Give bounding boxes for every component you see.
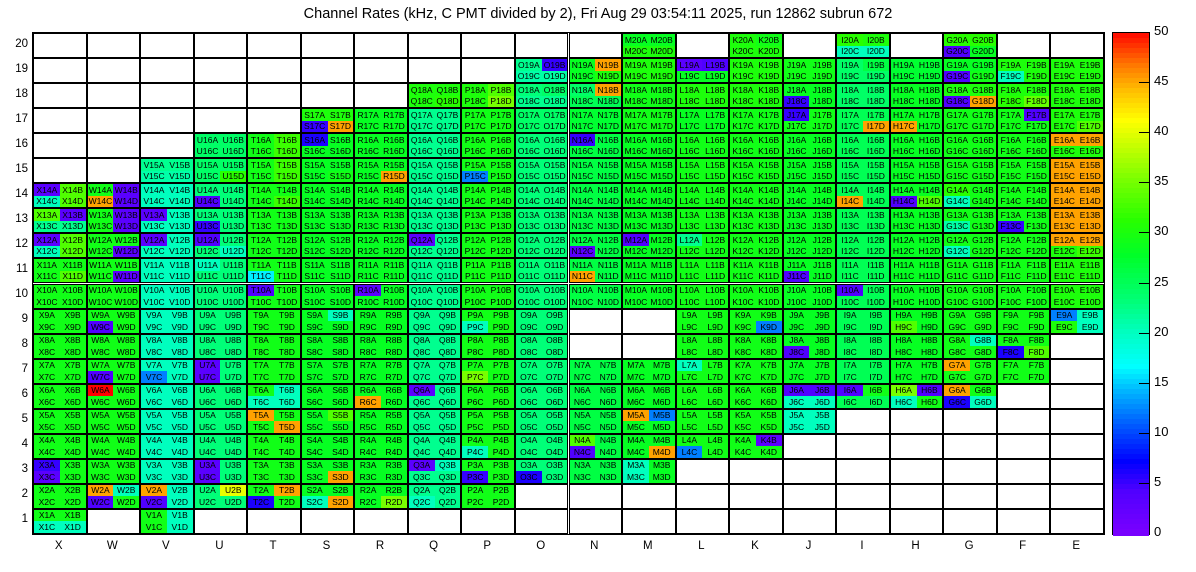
- pmt-channel: N6C: [570, 396, 596, 408]
- pmt-channel: X13B: [60, 209, 86, 221]
- pmt-channel: I15C: [837, 171, 863, 183]
- pmt-channel: L15D: [702, 171, 728, 183]
- pmt-channel: V10D: [167, 296, 193, 308]
- pmt-cell: H17AH17BH17CH17D: [890, 108, 944, 133]
- pmt-channel: X13D: [60, 221, 86, 233]
- pmt-channel: W8A: [88, 335, 114, 347]
- pmt-channel: F18B: [1024, 84, 1050, 96]
- pmt-channel: O13D: [542, 221, 568, 233]
- pmt-channel: L5A: [677, 410, 703, 422]
- empty-cell: [569, 509, 623, 534]
- pmt-channel: Q12A: [409, 234, 435, 246]
- pmt-channel: T6D: [274, 396, 300, 408]
- pmt-channel: R3A: [355, 460, 381, 472]
- pmt-channel: I18B: [863, 84, 889, 96]
- pmt-cell: M6AM6BM6CM6D: [622, 384, 676, 409]
- pmt-channel: I8C: [837, 346, 863, 358]
- pmt-channel: W6D: [113, 396, 139, 408]
- pmt-channel: L5B: [702, 410, 728, 422]
- pmt-channel: O19A: [516, 59, 542, 71]
- pmt-channel: I11C: [837, 271, 863, 283]
- pmt-channel: G13D: [970, 221, 996, 233]
- pmt-channel: N10B: [595, 285, 621, 297]
- pmt-cell: Q3AQ3BQ3CQ3D: [408, 459, 462, 484]
- pmt-cell: O9AO9BO9CO9D: [515, 309, 569, 334]
- pmt-channel: L19C: [677, 71, 703, 83]
- pmt-channel: P4D: [488, 446, 514, 458]
- pmt-channel: G18B: [970, 84, 996, 96]
- pmt-cell: I16AI16BI16CI16D: [836, 133, 890, 158]
- pmt-cell: M11AM11BM11CM11D: [622, 258, 676, 283]
- pmt-channel: L6D: [702, 396, 728, 408]
- empty-cell: [33, 158, 87, 183]
- pmt-channel: P6D: [488, 396, 514, 408]
- y-axis-label: 12: [2, 238, 28, 250]
- pmt-cell: H8AH8BH8CH8D: [890, 334, 944, 359]
- pmt-channel: Q3D: [435, 471, 461, 483]
- pmt-cell: M17AM17BM17CM17D: [622, 108, 676, 133]
- pmt-channel: L11D: [702, 271, 728, 283]
- pmt-channel: J8A: [784, 335, 810, 347]
- pmt-channel: O3B: [542, 460, 568, 472]
- empty-cell: [836, 484, 890, 509]
- empty-cell: [461, 58, 515, 83]
- y-axis-label: 2: [2, 488, 28, 500]
- pmt-cell: L10AL10BL10CL10D: [676, 284, 730, 309]
- pmt-cell: G7AG7BG7CG7D: [943, 359, 997, 384]
- pmt-channel: I8B: [863, 335, 889, 347]
- pmt-channel: V15D: [167, 171, 193, 183]
- pmt-cell: Q14AQ14BQ14CQ14D: [408, 183, 462, 208]
- x-axis-label: Q: [414, 540, 454, 552]
- pmt-channel: E9D: [1077, 321, 1103, 333]
- pmt-cell: N4AN4BN4CN4D: [569, 434, 623, 459]
- pmt-cell: H9AH9BH9CH9D: [890, 309, 944, 334]
- pmt-channel: X8A: [34, 335, 60, 347]
- pmt-channel: P8C: [462, 346, 488, 358]
- pmt-cell: S17AS17BS17CS17D: [301, 108, 355, 133]
- pmt-channel: W5A: [88, 410, 114, 422]
- pmt-cell: F12AF12BF12CF12D: [997, 233, 1051, 258]
- pmt-channel: P8B: [488, 335, 514, 347]
- pmt-cell: X5AX5BX5CX5D: [33, 409, 87, 434]
- pmt-channel: Q18D: [435, 96, 461, 108]
- pmt-channel: L13C: [677, 221, 703, 233]
- pmt-channel: J15A: [784, 159, 810, 171]
- pmt-cell: H16AH16BH16CH16D: [890, 133, 944, 158]
- pmt-channel: I17B: [863, 109, 889, 121]
- pmt-channel: I11B: [863, 259, 889, 271]
- pmt-channel: R4B: [381, 435, 407, 447]
- pmt-channel: Q4B: [435, 435, 461, 447]
- pmt-channel: N19C: [570, 71, 596, 83]
- pmt-channel: H18A: [891, 84, 917, 96]
- pmt-channel: U9C: [195, 321, 221, 333]
- pmt-cell: P18AP18BP18CP18D: [461, 83, 515, 108]
- pmt-channel: R14C: [355, 196, 381, 208]
- pmt-channel: R8C: [355, 346, 381, 358]
- pmt-cell: H10AH10BH10CH10D: [890, 284, 944, 309]
- pmt-channel: F14C: [998, 196, 1024, 208]
- pmt-cell: P10AP10BP10CP10D: [461, 284, 515, 309]
- pmt-channel: M11D: [649, 271, 675, 283]
- pmt-cell: M16AM16BM16CM16D: [622, 133, 676, 158]
- pmt-cell: O12AO12BO12CO12D: [515, 233, 569, 258]
- pmt-cell: E11AE11BE11CE11D: [1050, 258, 1104, 283]
- pmt-channel: P16C: [462, 146, 488, 158]
- pmt-channel: L5C: [677, 421, 703, 433]
- pmt-cell: O7AO7BO7CO7D: [515, 359, 569, 384]
- pmt-channel: E19A: [1051, 59, 1077, 71]
- pmt-channel: S10D: [328, 296, 354, 308]
- pmt-channel: F9A: [998, 310, 1024, 322]
- pmt-channel: Q12C: [409, 246, 435, 258]
- pmt-channel: K13D: [756, 221, 782, 233]
- pmt-channel: W5D: [113, 421, 139, 433]
- pmt-cell: S10AS10BS10CS10D: [301, 284, 355, 309]
- pmt-channel: X9D: [60, 321, 86, 333]
- pmt-cell: E17AE17BE17CE17D: [1050, 108, 1104, 133]
- pmt-channel: Q4D: [435, 446, 461, 458]
- pmt-channel: X5D: [60, 421, 86, 433]
- pmt-channel: F9D: [1024, 321, 1050, 333]
- pmt-channel: V8C: [141, 346, 167, 358]
- pmt-channel: I19C: [837, 71, 863, 83]
- pmt-channel: T3C: [248, 471, 274, 483]
- pmt-channel: O7D: [542, 371, 568, 383]
- pmt-channel: I7B: [863, 360, 889, 372]
- pmt-channel: N10A: [570, 285, 596, 297]
- pmt-channel: P16D: [488, 146, 514, 158]
- pmt-channel: J10A: [784, 285, 810, 297]
- pmt-channel: U9B: [220, 310, 246, 322]
- pmt-channel: K8A: [730, 335, 756, 347]
- pmt-channel: O15A: [516, 159, 542, 171]
- pmt-channel: R10B: [381, 285, 407, 297]
- pmt-cell: L11AL11BL11CL11D: [676, 258, 730, 283]
- y-axis-label: 11: [2, 263, 28, 275]
- empty-cell: [247, 509, 301, 534]
- pmt-cell: L7AL7BL7CL7D: [676, 359, 730, 384]
- pmt-cell: F15AF15BF15CF15D: [997, 158, 1051, 183]
- pmt-channel: F18D: [1024, 96, 1050, 108]
- pmt-cell: P5AP5BP5CP5D: [461, 409, 515, 434]
- empty-cell: [301, 83, 355, 108]
- pmt-cell: I19AI19BI19CI19D: [836, 58, 890, 83]
- pmt-channel: P6A: [462, 385, 488, 397]
- pmt-channel: V9D: [167, 321, 193, 333]
- pmt-channel: P5D: [488, 421, 514, 433]
- pmt-cell: G15AG15BG15CG15D: [943, 158, 997, 183]
- pmt-channel: Q13B: [435, 209, 461, 221]
- empty-cell: [301, 509, 355, 534]
- pmt-channel: E18A: [1051, 84, 1077, 96]
- pmt-channel: N4D: [595, 446, 621, 458]
- pmt-cell: T12AT12BT12CT12D: [247, 233, 301, 258]
- pmt-channel: W8C: [88, 346, 114, 358]
- pmt-channel: H6C: [891, 396, 917, 408]
- pmt-channel: F9B: [1024, 310, 1050, 322]
- pmt-channel: F18A: [998, 84, 1024, 96]
- pmt-channel: R14B: [381, 184, 407, 196]
- pmt-channel: S6B: [328, 385, 354, 397]
- pmt-channel: K7A: [730, 360, 756, 372]
- pmt-channel: M6C: [623, 396, 649, 408]
- pmt-cell: O19AO19BO19CO19D: [515, 58, 569, 83]
- pmt-channel: R16B: [381, 134, 407, 146]
- pmt-channel: P14A: [462, 184, 488, 196]
- pmt-channel: J8B: [809, 335, 835, 347]
- pmt-channel: U11D: [220, 271, 246, 283]
- pmt-cell: E9AE9BE9CE9D: [1050, 309, 1104, 334]
- pmt-channel: G7C: [944, 371, 970, 383]
- pmt-channel: X1D: [60, 521, 86, 533]
- empty-cell: [408, 58, 462, 83]
- pmt-cell: R6AR6BR6CR6D: [354, 384, 408, 409]
- pmt-channel: J16A: [784, 134, 810, 146]
- pmt-cell: V3AV3BV3CV3D: [140, 459, 194, 484]
- pmt-channel: R3C: [355, 471, 381, 483]
- pmt-channel: P15B: [488, 159, 514, 171]
- pmt-cell: F7AF7BF7CF7D: [997, 359, 1051, 384]
- pmt-channel: L19A: [677, 59, 703, 71]
- pmt-cell: X13AX13BX13CX13D: [33, 208, 87, 233]
- pmt-channel: L8D: [702, 346, 728, 358]
- pmt-channel: I12B: [863, 234, 889, 246]
- pmt-channel: Q9C: [409, 321, 435, 333]
- pmt-channel: S7C: [302, 371, 328, 383]
- pmt-cell: W6AW6BW6CW6D: [87, 384, 141, 409]
- empty-cell: [1050, 384, 1104, 409]
- pmt-channel: P14C: [462, 196, 488, 208]
- pmt-channel: E9B: [1077, 310, 1103, 322]
- pmt-channel: K4B: [756, 435, 782, 447]
- pmt-cell: Q8AQ8BQ8CQ8D: [408, 334, 462, 359]
- pmt-cell: L6AL6BL6CL6D: [676, 384, 730, 409]
- pmt-cell: W2AW2BW2CW2D: [87, 484, 141, 509]
- pmt-cell: N18AN18BN18CN18D: [569, 83, 623, 108]
- pmt-channel: N12B: [595, 234, 621, 246]
- pmt-channel: K5D: [756, 421, 782, 433]
- pmt-channel: U12B: [220, 234, 246, 246]
- pmt-cell: E19AE19BE19CE19D: [1050, 58, 1104, 83]
- pmt-channel: I14A: [837, 184, 863, 196]
- pmt-channel: P8D: [488, 346, 514, 358]
- pmt-channel: V7D: [167, 371, 193, 383]
- pmt-cell: R15AR15BR15CR15D: [354, 158, 408, 183]
- pmt-channel: W13B: [113, 209, 139, 221]
- pmt-channel: R13B: [381, 209, 407, 221]
- pmt-channel: T2C: [248, 496, 274, 508]
- pmt-channel: G14A: [944, 184, 970, 196]
- pmt-channel: S8A: [302, 335, 328, 347]
- pmt-channel: R12B: [381, 234, 407, 246]
- pmt-channel: M3B: [649, 460, 675, 472]
- pmt-channel: X14C: [34, 196, 60, 208]
- pmt-channel: R9C: [355, 321, 381, 333]
- color-bar-tick: [1139, 483, 1150, 484]
- pmt-channel: N11D: [595, 271, 621, 283]
- pmt-channel: I16A: [837, 134, 863, 146]
- pmt-cell: V5AV5BV5CV5D: [140, 409, 194, 434]
- x-axis-label: V: [146, 540, 186, 552]
- pmt-channel: X3A: [34, 460, 60, 472]
- pmt-channel: H19D: [917, 71, 943, 83]
- pmt-cell: X4AX4BX4CX4D: [33, 434, 87, 459]
- pmt-cell: S7AS7BS7CS7D: [301, 359, 355, 384]
- pmt-channel: I9B: [863, 310, 889, 322]
- pmt-channel: G12C: [944, 246, 970, 258]
- pmt-channel: M4D: [649, 446, 675, 458]
- pmt-cell: V14AV14BV14CV14D: [140, 183, 194, 208]
- empty-cell: [836, 509, 890, 534]
- pmt-channel: S15C: [302, 171, 328, 183]
- pmt-channel: E10C: [1051, 296, 1077, 308]
- pmt-cell: V1AV1BV1CV1D: [140, 509, 194, 534]
- pmt-channel: N7C: [570, 371, 596, 383]
- pmt-cell: L13AL13BL13CL13D: [676, 208, 730, 233]
- pmt-channel: V4C: [141, 446, 167, 458]
- pmt-channel: V5D: [167, 421, 193, 433]
- pmt-channel: H11C: [891, 271, 917, 283]
- pmt-cell: R9AR9BR9CR9D: [354, 309, 408, 334]
- pmt-cell: K6AK6BK6CK6D: [729, 384, 783, 409]
- pmt-channel: T6C: [248, 396, 274, 408]
- pmt-channel: R5C: [355, 421, 381, 433]
- pmt-channel: J19B: [809, 59, 835, 71]
- color-bar-tick-label: 30: [1154, 223, 1168, 238]
- pmt-channel: T15C: [248, 171, 274, 183]
- empty-cell: [247, 33, 301, 58]
- empty-cell: [943, 434, 997, 459]
- pmt-channel: H14B: [917, 184, 943, 196]
- pmt-cell: O10AO10BO10CO10D: [515, 284, 569, 309]
- pmt-channel: N6D: [595, 396, 621, 408]
- pmt-channel: P11D: [488, 271, 514, 283]
- empty-cell: [408, 33, 462, 58]
- pmt-cell: F19AF19BF19CF19D: [997, 58, 1051, 83]
- pmt-channel: U2B: [220, 485, 246, 497]
- pmt-channel: G19D: [970, 71, 996, 83]
- pmt-channel: T6B: [274, 385, 300, 397]
- pmt-channel: L18B: [702, 84, 728, 96]
- pmt-channel: P17B: [488, 109, 514, 121]
- pmt-channel: U16C: [195, 146, 221, 158]
- pmt-channel: T13C: [248, 221, 274, 233]
- pmt-channel: F7A: [998, 360, 1024, 372]
- pmt-channel: L10A: [677, 285, 703, 297]
- y-axis-label: 15: [2, 163, 28, 175]
- pmt-channel: I16B: [863, 134, 889, 146]
- pmt-cell: M7AM7BM7CM7D: [622, 359, 676, 384]
- pmt-channel: W12B: [113, 234, 139, 246]
- pmt-channel: P7B: [488, 360, 514, 372]
- pmt-channel: L7C: [677, 371, 703, 383]
- color-bar-tick: [1139, 333, 1150, 334]
- empty-cell: [33, 108, 87, 133]
- pmt-channel: F8C: [998, 346, 1024, 358]
- pmt-channel: Q7C: [409, 371, 435, 383]
- pmt-channel: I16D: [863, 146, 889, 158]
- pmt-channel: P11A: [462, 259, 488, 271]
- pmt-channel: P5C: [462, 421, 488, 433]
- pmt-channel: K15B: [756, 159, 782, 171]
- pmt-channel: T8A: [248, 335, 274, 347]
- pmt-channel: O9B: [542, 310, 568, 322]
- pmt-channel: R5D: [381, 421, 407, 433]
- pmt-channel: T11A: [248, 259, 274, 271]
- pmt-channel: Q2A: [409, 485, 435, 497]
- pmt-channel: T4A: [248, 435, 274, 447]
- pmt-channel: F13B: [1024, 209, 1050, 221]
- pmt-channel: S12B: [328, 234, 354, 246]
- empty-cell: [569, 33, 623, 58]
- pmt-channel: M17B: [649, 109, 675, 121]
- pmt-channel: L17B: [702, 109, 728, 121]
- empty-cell: [1050, 459, 1104, 484]
- pmt-channel: L7B: [702, 360, 728, 372]
- pmt-channel: I10B: [863, 285, 889, 297]
- pmt-channel: Q3B: [435, 460, 461, 472]
- pmt-channel: J12C: [784, 246, 810, 258]
- pmt-channel: F17C: [998, 121, 1024, 133]
- pmt-channel: I12C: [837, 246, 863, 258]
- pmt-channel: L9C: [677, 321, 703, 333]
- pmt-channel: K6B: [756, 385, 782, 397]
- pmt-channel: O17B: [542, 109, 568, 121]
- pmt-cell: W14AW14BW14CW14D: [87, 183, 141, 208]
- pmt-channel: N3C: [570, 471, 596, 483]
- pmt-channel: M4B: [649, 435, 675, 447]
- pmt-channel: X1B: [60, 510, 86, 522]
- pmt-channel: R4C: [355, 446, 381, 458]
- pmt-channel: K16B: [756, 134, 782, 146]
- pmt-channel: W11B: [113, 259, 139, 271]
- pmt-cell: I11AI11BI11CI11D: [836, 258, 890, 283]
- y-axis-label: 3: [2, 463, 28, 475]
- pmt-channel: R6A: [355, 385, 381, 397]
- pmt-channel: Q2C: [409, 496, 435, 508]
- pmt-channel: I10D: [863, 296, 889, 308]
- pmt-channel: G15C: [944, 171, 970, 183]
- pmt-channel: W3B: [113, 460, 139, 472]
- pmt-cell: M4AM4BM4CM4D: [622, 434, 676, 459]
- pmt-channel: Q5D: [435, 421, 461, 433]
- empty-cell: [140, 133, 194, 158]
- pmt-channel: U15C: [195, 171, 221, 183]
- y-axis-label: 5: [2, 413, 28, 425]
- pmt-cell: X9AX9BX9CX9D: [33, 309, 87, 334]
- channel-rates-plot: Channel Rates (kHz, C PMT divided by 2),…: [0, 0, 1196, 572]
- pmt-channel: N5D: [595, 421, 621, 433]
- pmt-channel: M20B: [649, 34, 675, 46]
- pmt-cell: R7AR7BR7CR7D: [354, 359, 408, 384]
- pmt-channel: L16D: [702, 146, 728, 158]
- pmt-cell: W5AW5BW5CW5D: [87, 409, 141, 434]
- pmt-channel: Q2D: [435, 496, 461, 508]
- pmt-channel: J11A: [784, 259, 810, 271]
- pmt-channel: F19A: [998, 59, 1024, 71]
- pmt-channel: U5C: [195, 421, 221, 433]
- pmt-channel: O5B: [542, 410, 568, 422]
- pmt-channel: S7A: [302, 360, 328, 372]
- pmt-channel: R12D: [381, 246, 407, 258]
- pmt-channel: H12C: [891, 246, 917, 258]
- pmt-channel: K20C: [730, 46, 756, 58]
- pmt-channel: T16B: [274, 134, 300, 146]
- pmt-channel: V2A: [141, 485, 167, 497]
- pmt-channel: L16A: [677, 134, 703, 146]
